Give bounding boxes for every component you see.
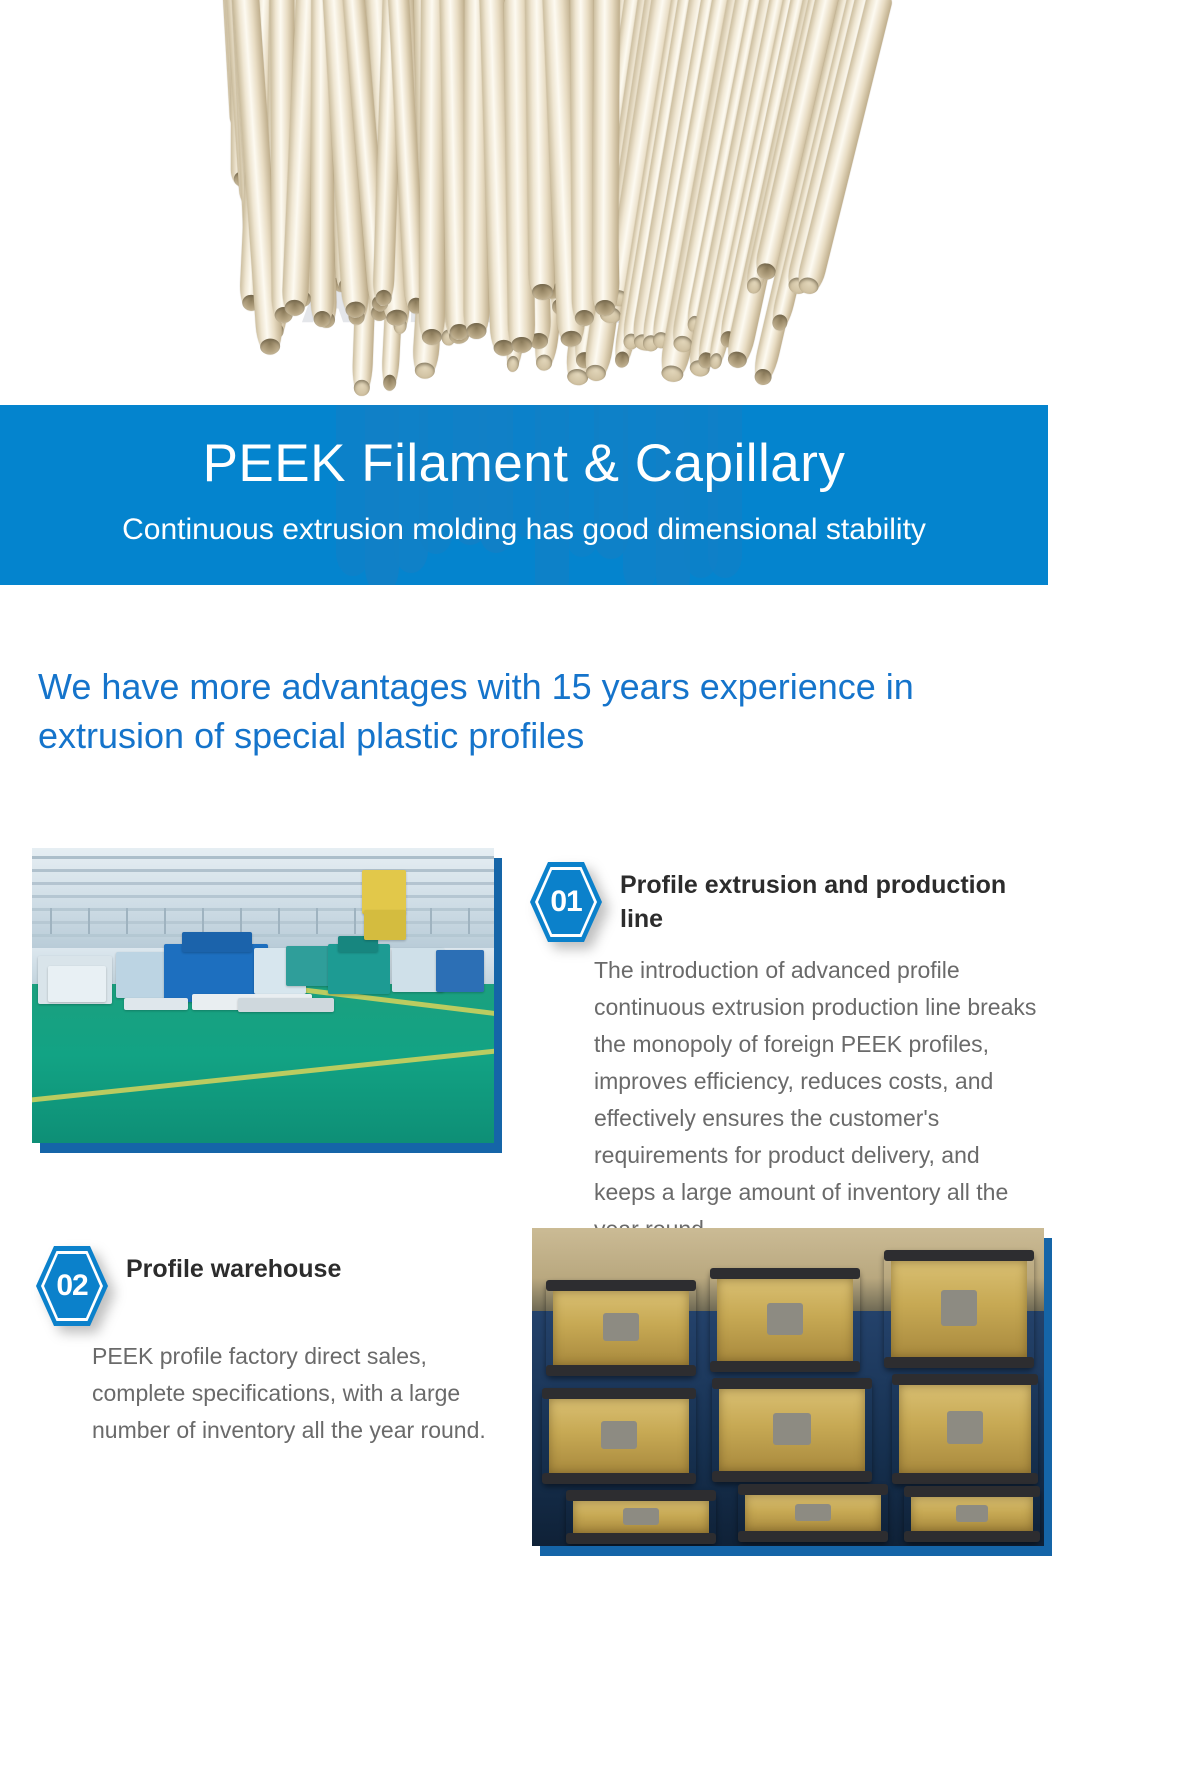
feature-01-body: The introduction of advanced profile con…: [594, 952, 1046, 1248]
factory-floor-photo: [32, 848, 494, 1143]
feature-number: 01: [530, 862, 602, 942]
feature-01-header: 01 Profile extrusion and production line: [530, 862, 1045, 942]
feature-02-header: 02 Profile warehouse: [36, 1246, 506, 1326]
hexagon-badge-icon: 01: [530, 862, 602, 942]
feature-02-body: PEEK profile factory direct sales, compl…: [92, 1338, 512, 1449]
feature-02-image: [532, 1228, 1052, 1558]
banner-subtitle: Continuous extrusion molding has good di…: [0, 513, 1048, 547]
section-headline: We have more advantages with 15 years ex…: [38, 662, 1038, 760]
feature-title: Profile warehouse: [126, 1246, 506, 1286]
title-banner: PEEK Filament & Capillary Continuous ext…: [0, 405, 1048, 585]
feature-01-image: [32, 848, 502, 1153]
feature-title: Profile extrusion and production line: [620, 862, 1045, 936]
banner-title: PEEK Filament & Capillary: [0, 433, 1048, 494]
feature-number: 02: [36, 1246, 108, 1326]
hero-product-image: AlibabaSR: [0, 0, 1048, 408]
spool-warehouse-photo: [532, 1228, 1044, 1546]
hexagon-badge-icon: 02: [36, 1246, 108, 1326]
banner-watermark-graphic: [330, 405, 750, 585]
tube-bundle-graphic: [205, 0, 845, 406]
